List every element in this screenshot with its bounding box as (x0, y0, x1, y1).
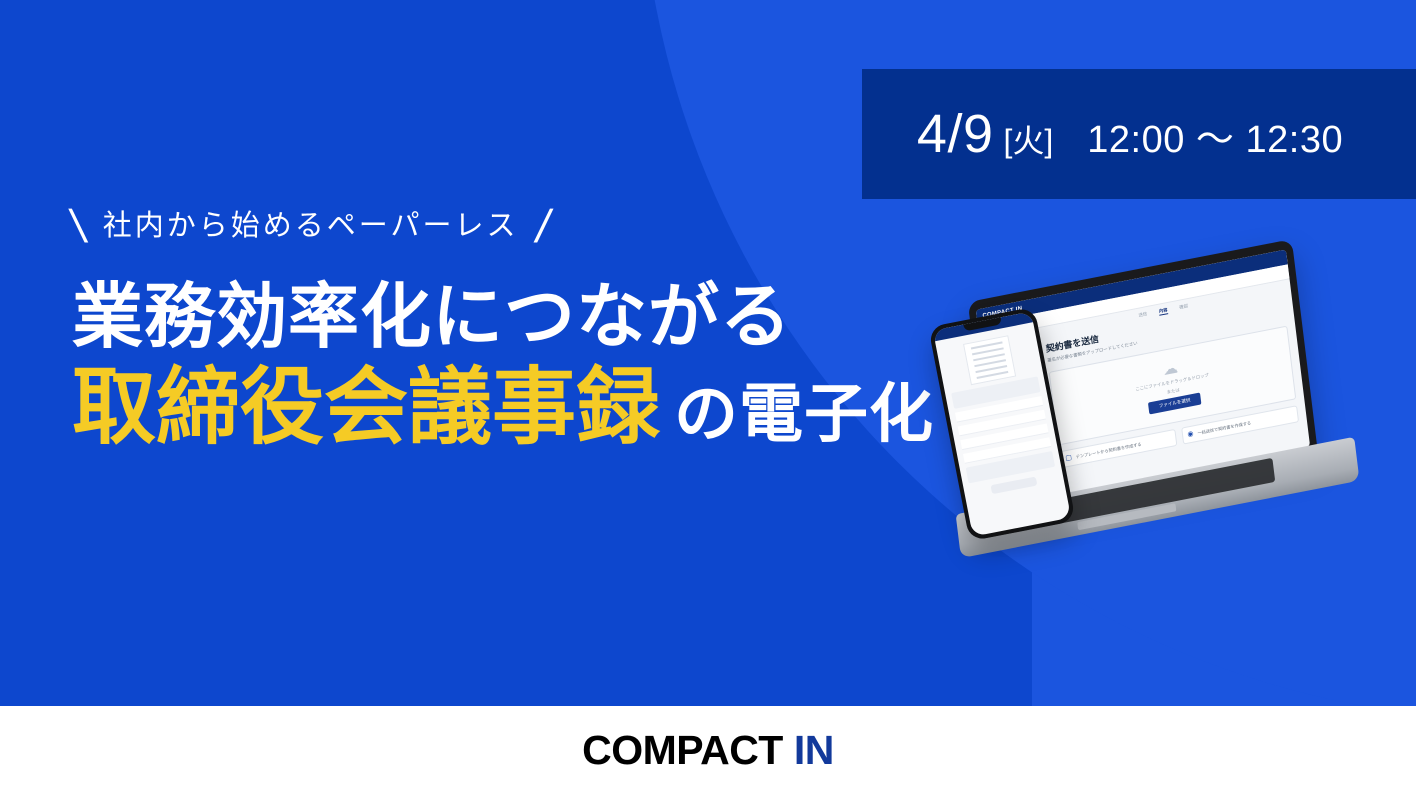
headline-line-2: 取締役会議事録 の電子化 (72, 363, 1082, 451)
device-mockup-group: COMPACT IN すべての契約 ▾ 契約書を送信 すべての契約 テンプレート… (960, 260, 1416, 680)
slash-right-icon: / (532, 203, 555, 249)
stamp-icon: ◉ (1187, 430, 1194, 438)
document-icon: ▢ (1065, 454, 1072, 462)
step-3: 確認 (1179, 303, 1188, 312)
copy-block: \ 社内から始めるペーパーレス / 業務効率化につながる 取締役会議事録 の電子… (72, 195, 1082, 451)
eyebrow-line: \ 社内から始めるペーパーレス / (72, 195, 1082, 257)
date-banner: 4/9 [火] 12:00 〜 12:30 (862, 69, 1416, 199)
headline-accent-text: 取締役会議事録 (72, 363, 660, 451)
footer-logo-bar: COMPACTIN (0, 706, 1416, 795)
cloud-upload-icon: ☁ (1162, 360, 1179, 378)
shortcut-card-bulk-label: 一括送信で契約書を作成する (1197, 420, 1251, 436)
brand-logo-primary: COMPACT (582, 727, 783, 773)
phone-document-preview (963, 335, 1016, 385)
webinar-promo-banner: 4/9 [火] 12:00 〜 12:30 \ 社内から始めるペーパーレス / … (0, 0, 1416, 795)
select-file-button: ファイルを選択 (1148, 393, 1201, 415)
eyebrow-text: 社内から始めるペーパーレス (103, 212, 519, 241)
brand-logo-secondary: IN (794, 727, 834, 773)
event-time-range: 12:00 〜 12:30 (1087, 121, 1343, 159)
step-2: 内容 (1159, 307, 1168, 316)
shortcut-card-template-label: テンプレートから契約書を作成する (1075, 441, 1141, 460)
event-date: 4/9 (917, 107, 994, 161)
phone-action-button (990, 477, 1037, 495)
date-row: 4/9 [火] 12:00 〜 12:30 (917, 107, 1343, 161)
headline-tail-text: の電子化 (674, 381, 934, 448)
dropzone-subtext: または (1166, 387, 1180, 395)
step-1: 送信 (1138, 311, 1147, 320)
event-day-of-week: [火] (1003, 125, 1053, 157)
brand-logo: COMPACTIN (582, 730, 834, 771)
headline-line-1: 業務効率化につながる (72, 279, 1082, 357)
